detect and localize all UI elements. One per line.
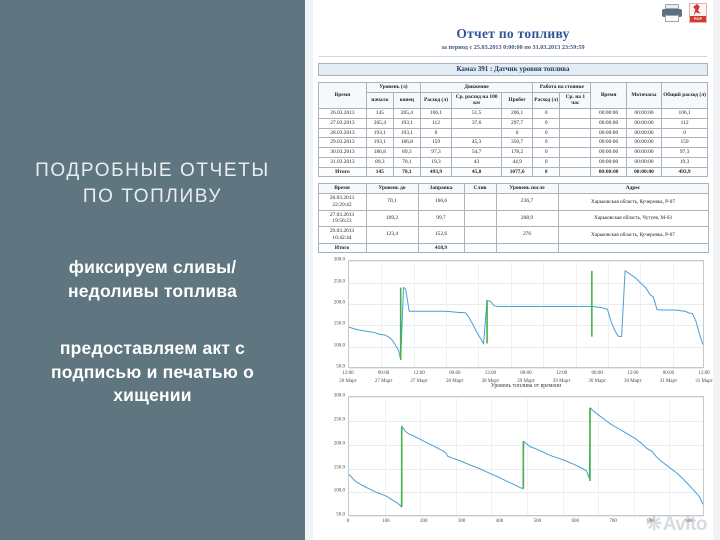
cell-c8: 00:00:00 [591, 128, 626, 138]
y-tick-label: 300.0 [321, 258, 345, 263]
cell-c3 [464, 227, 496, 244]
cell-c1: 109,2 [366, 210, 418, 227]
cell-c2: 70,1 [393, 167, 420, 177]
chart1-series-line [349, 261, 703, 368]
x-tick-label: 12:0026 Март [330, 370, 366, 385]
fuel-summary-table: Время Уровень (л) Движение Работа на сто… [318, 82, 708, 178]
th-refuel: Заправка [418, 184, 464, 194]
th-group-level: Уровень (л) [366, 82, 420, 92]
cell-c1: 123,4 [366, 227, 418, 244]
cell-c2: 152,6 [418, 227, 464, 244]
x-tick-label: 600 [557, 518, 593, 526]
x-tick-time: 00:00 [366, 370, 402, 378]
cell-c7 [560, 138, 591, 148]
cell-c1: 186,8 [366, 148, 393, 158]
th-idle-consumption: Расход (л) [533, 92, 560, 109]
cell-c1: 193,1 [366, 128, 393, 138]
cell-c3 [464, 243, 496, 253]
table-row: 26.03.201322:20:4270,1166,6236,7Харьковс… [318, 194, 708, 211]
cell-c3: 493,9 [420, 167, 451, 177]
cell-c9: 00:00:00 [626, 157, 661, 167]
pdf-icon-label: PDF [690, 16, 706, 22]
x-tick-time: 00:00 [650, 370, 686, 378]
cell-c6: 0 [533, 167, 560, 177]
cell-c4: 45,3 [452, 138, 502, 148]
x-tick-time: 12:00 [615, 370, 651, 378]
vehicle-name: Камаз 391 : Датчик уровня топлива [319, 64, 708, 76]
feature1-line-1: фиксируем сливы/ [10, 256, 295, 279]
x-tick-label: 0 [330, 518, 366, 526]
x-tick-label: 700 [595, 518, 631, 526]
x-tick-label: 500 [519, 518, 555, 526]
y-tick-label: 300.0 [321, 394, 345, 399]
cell-c8: 00:00:00 [591, 118, 626, 128]
cell-c2: 193,1 [393, 118, 420, 128]
y-tick-label: 250.0 [321, 279, 345, 284]
cell-c0: 29.03.2013 [319, 138, 367, 148]
y-tick-label: 200.0 [321, 441, 345, 446]
table-row: 27.03.2013205,4193,111237,6297,7000:00:0… [319, 118, 708, 128]
cell-c5: 178,2 [502, 148, 533, 158]
cell-c5 [558, 243, 708, 253]
cell-c3: 106,1 [420, 109, 451, 119]
cell-c1: 205,4 [366, 118, 393, 128]
table2-column-row: Время Уровень до Заправка Слив Уровень п… [318, 184, 708, 194]
th-group-idle: Работа на стоянке [533, 82, 591, 92]
th-move-consumption: Расход (л) [420, 92, 451, 109]
headline-line-2: ПО ТОПЛИВУ [13, 184, 293, 210]
x-tick-label: 12:0028 Март [472, 370, 508, 385]
y-tick-label: 100.0 [321, 489, 345, 494]
cell-c6: 0 [533, 148, 560, 158]
cell-c0: 26.03.2013 [319, 109, 367, 119]
th-level-start: начало [366, 92, 393, 109]
cell-c8: 00:00:00 [591, 157, 626, 167]
table1-body: 26.03.2013145205,4106,151,5206,1000:00:0… [319, 109, 708, 177]
x-tick-label: 00:0027 Март [366, 370, 402, 385]
cell-c1: 70,1 [366, 194, 418, 211]
cell-c9: 00:00:00 [626, 118, 661, 128]
cell-c7 [560, 109, 591, 119]
x-tick-time: 12:00 [401, 370, 437, 378]
cell-c7 [560, 118, 591, 128]
x-tick-label: 300 [444, 518, 480, 526]
th-level-after: Уровень после [496, 184, 558, 194]
cell-c10: 112 [662, 118, 708, 128]
chart2-series-line [349, 397, 703, 516]
x-tick-label: 12:0029 Март [544, 370, 580, 385]
report-toolbar: PDF [313, 0, 713, 26]
th-idle-time: Время [591, 82, 626, 108]
cell-c8: 00:00:00 [591, 138, 626, 148]
cell-c7 [560, 148, 591, 158]
x-tick-time: 00:00 [579, 370, 615, 378]
th-avg-per-hour: Ср. на 1 час [560, 92, 591, 109]
x-tick-label: 100 [368, 518, 404, 526]
report-period: за период с 25.03.2013 0:00:00 по 31.03.… [313, 44, 713, 51]
th-group-movement: Движение [420, 82, 532, 92]
cell-c4: 54,7 [452, 148, 502, 158]
cell-c9: 00:00:00 [626, 148, 661, 158]
cell-c7 [560, 128, 591, 138]
cell-c5: 0 [502, 128, 533, 138]
cell-c3 [464, 210, 496, 227]
cell-c3: 19,3 [420, 157, 451, 167]
cell-c8: 00:00:00 [591, 148, 626, 158]
feature2-line-2: подписью и печатью о [10, 361, 295, 384]
header-divider [319, 56, 707, 57]
cell-c6: 0 [533, 128, 560, 138]
cell-c4: 43 [452, 157, 502, 167]
cell-c3: 0 [420, 128, 451, 138]
cell-c1: 145 [366, 109, 393, 119]
x-tick-date: 28 Март [472, 378, 508, 386]
cell-c1: 145 [366, 167, 393, 177]
cell-c4: 276 [496, 227, 558, 244]
x-tick-date: 30 Март [615, 378, 651, 386]
th-level-end: конец [393, 92, 420, 109]
cell-c2: 418,9 [418, 243, 464, 253]
th-drain: Слив [464, 184, 496, 194]
table2-body: 26.03.201322:20:4270,1166,6236,7Харьковс… [318, 194, 708, 253]
cell-c2: 205,4 [393, 109, 420, 119]
th-level-before: Уровень до [366, 184, 418, 194]
cell-c4: 208,9 [496, 210, 558, 227]
cell-c9: 00:00:00 [626, 138, 661, 148]
cell-c0: 27.03.201319:56:23 [318, 210, 366, 227]
printer-icon[interactable] [661, 3, 683, 23]
report-document: PDF Отчет по топливу за период с 25.03.2… [313, 0, 713, 540]
cell-c0: 29.03.201316:42:44 [318, 227, 366, 244]
cell-c10: 106,1 [662, 109, 708, 119]
table-row: 29.03.2013193,1186,815945,3350,7000:00:0… [319, 138, 708, 148]
x-tick-label: 00:0029 Март [508, 370, 544, 385]
x-tick-time: 00:00 [437, 370, 473, 378]
x-tick-label: 400 [481, 518, 517, 526]
y-tick-label: 250.0 [321, 418, 345, 423]
y-tick-label: 150.0 [321, 465, 345, 470]
chart1-x-axis: 12:0026 Март00:0027 Март12:0027 Март00:0… [348, 368, 704, 384]
th-engine-hours: Моточасы [626, 82, 661, 108]
cell-c4: 45,8 [452, 167, 502, 177]
fuel-level-index-chart: 0100200300400500600700800900 300.0250.02… [318, 396, 708, 532]
th-event-time: Время [318, 184, 366, 194]
chart2-plot-area [348, 396, 704, 516]
cell-c4 [496, 243, 558, 253]
cell-c0: 27.03.2013 [319, 118, 367, 128]
x-tick-date: 27 Март [366, 378, 402, 386]
table-row: 28.03.2013193,1193,100000:00:0000:00:000 [319, 128, 708, 138]
th-mileage: Пробег [502, 92, 533, 109]
x-tick-time: 12:00 [472, 370, 508, 378]
th-avg-per-100km: Ср. расход на 100 км [452, 92, 502, 109]
x-tick-label: 12:0030 Март [615, 370, 651, 385]
cell-c4: 51,5 [452, 109, 502, 119]
x-tick-date: 31 Март [686, 378, 720, 386]
cell-c3: 112 [420, 118, 451, 128]
table1-head: Время Уровень (л) Движение Работа на сто… [319, 82, 708, 108]
cell-c5: 1077,6 [502, 167, 533, 177]
cell-c0: Итого [318, 243, 366, 253]
x-tick-date: 26 Март [330, 378, 366, 386]
cell-c2: 70,1 [393, 157, 420, 167]
y-tick-label: 50.0 [321, 513, 345, 518]
table-row: 26.03.2013145205,4106,151,5206,1000:00:0… [319, 109, 708, 119]
cell-c0: 31.03.2013 [319, 157, 367, 167]
table2-head: Время Уровень до Заправка Слив Уровень п… [318, 184, 708, 194]
feature2-line-1: предоставляем акт с [10, 337, 295, 360]
cell-c5: Харьковская область, Чугуев, М-03 [558, 210, 708, 227]
table-row-total: Итого418,9 [318, 243, 708, 253]
cell-c2: 99,7 [418, 210, 464, 227]
vehicle-title-table: Камаз 391 : Датчик уровня топлива [318, 63, 708, 76]
fuel-level-time-chart: 12:0026 Март00:0027 Март12:0027 Март00:0… [318, 260, 708, 389]
pdf-icon[interactable]: PDF [687, 3, 709, 23]
cell-c0: 30.03.2013 [319, 148, 367, 158]
table1-group-row: Время Уровень (л) Движение Работа на сто… [319, 82, 708, 92]
cell-c10: 493,9 [662, 167, 708, 177]
cell-c5: 206,1 [502, 109, 533, 119]
table-row: 27.03.201319:56:23109,299,7208,9Харьковс… [318, 210, 708, 227]
cell-c10: 159 [662, 138, 708, 148]
x-tick-label: 12:0027 Март [401, 370, 437, 385]
left-marketing-panel: ПОДРОБНЫЕ ОТЧЕТЫ ПО ТОПЛИВУ фиксируем сл… [0, 0, 305, 540]
cell-c1: 193,1 [366, 138, 393, 148]
feature-drain-detection: фиксируем сливы/ недоливы топлива [10, 256, 295, 303]
table-row: 31.03.201389,370,119,34344,9000:00:0000:… [319, 157, 708, 167]
cell-c10: 97,3 [662, 148, 708, 158]
cell-c0: 28.03.2013 [319, 128, 367, 138]
cell-c4 [452, 128, 502, 138]
report-title: Отчет по топливу [313, 26, 713, 42]
x-tick-time: 12:00 [330, 370, 366, 378]
cell-c6: 0 [533, 138, 560, 148]
cell-c6: 0 [533, 118, 560, 128]
cell-c9: 00:00:00 [626, 128, 661, 138]
th-total-consumption: Общий расход (л) [662, 82, 708, 108]
cell-c4: 37,6 [452, 118, 502, 128]
cell-c4: 236,7 [496, 194, 558, 211]
cell-c5: Харьковская область, Кучеровка, Р-07 [558, 227, 708, 244]
cell-c0: Итого [319, 167, 367, 177]
x-tick-time: 12:00 [686, 370, 720, 378]
x-tick-label: 200 [406, 518, 442, 526]
cell-c8: 00:00:00 [591, 109, 626, 119]
x-tick-date: 30 Март [579, 378, 615, 386]
y-tick-label: 150.0 [321, 322, 345, 327]
feature1-line-2: недоливы топлива [10, 280, 295, 303]
y-tick-label: 50.0 [321, 365, 345, 370]
cell-c9: 00:00:00 [626, 167, 661, 177]
cell-c9: 00:00:00 [626, 109, 661, 119]
table-row: 29.03.201316:42:44123,4152,6276Харьковск… [318, 227, 708, 244]
x-tick-time: 00:00 [508, 370, 544, 378]
cell-c5: 44,9 [502, 157, 533, 167]
cell-c2: 89,3 [393, 148, 420, 158]
headline-line-1: ПОДРОБНЫЕ ОТЧЕТЫ [13, 158, 293, 184]
x-tick-date: 29 Март [544, 378, 580, 386]
cell-c7 [560, 157, 591, 167]
x-tick-label: 00:0030 Март [579, 370, 615, 385]
cell-c0: 26.03.201322:20:42 [318, 194, 366, 211]
x-tick-label: 00:0031 Март [650, 370, 686, 385]
cell-c8: 00:00:00 [591, 167, 626, 177]
cell-c2: 193,1 [393, 128, 420, 138]
x-tick-date: 27 Март [401, 378, 437, 386]
cell-c3 [464, 194, 496, 211]
cell-c3: 159 [420, 138, 451, 148]
th-address: Адрес [558, 184, 708, 194]
x-tick-date: 31 Март [650, 378, 686, 386]
x-tick-label: 12:0031 Март [686, 370, 720, 385]
watermark-text: Avito [663, 514, 707, 535]
cell-c10: 19,3 [662, 157, 708, 167]
chart1-plot-area [348, 260, 704, 368]
table-row-total: Итого14570,1493,945,81077,6000:00:0000:0… [319, 167, 708, 177]
cell-c6: 0 [533, 109, 560, 119]
cell-c5: Харьковская область, Кучеровка, Р-07 [558, 194, 708, 211]
cell-c2: 166,6 [418, 194, 464, 211]
x-tick-label: 00:0028 Март [437, 370, 473, 385]
cell-c2: 186,8 [393, 138, 420, 148]
y-tick-label: 100.0 [321, 343, 345, 348]
slide-root: ПОДРОБНЫЕ ОТЧЕТЫ ПО ТОПЛИВУ фиксируем сл… [0, 0, 720, 540]
cell-c7 [560, 167, 591, 177]
cell-c6: 0 [533, 157, 560, 167]
table-row: 30.03.2013186,889,397,354,7178,2000:00:0… [319, 148, 708, 158]
report-screenshot-panel: PDF Отчет по топливу за период с 25.03.2… [305, 0, 720, 540]
y-tick-label: 200.0 [321, 301, 345, 306]
avito-watermark: ❊Avito [646, 513, 707, 536]
refuel-events-table: Время Уровень до Заправка Слив Уровень п… [318, 183, 709, 253]
cell-c3: 97,3 [420, 148, 451, 158]
cell-c5: 350,7 [502, 138, 533, 148]
feature-theft-report: предоставляем акт с подписью и печатью о… [10, 337, 295, 407]
feature2-line-3: хищении [10, 384, 295, 407]
x-tick-date: 29 Март [508, 378, 544, 386]
cell-c10: 0 [662, 128, 708, 138]
cell-c1: 89,3 [366, 157, 393, 167]
x-tick-date: 28 Март [437, 378, 473, 386]
cell-c1 [366, 243, 418, 253]
th-time: Время [319, 82, 367, 108]
x-tick-time: 12:00 [544, 370, 580, 378]
cell-c5: 297,7 [502, 118, 533, 128]
page-title: ПОДРОБНЫЕ ОТЧЕТЫ ПО ТОПЛИВУ [13, 158, 293, 210]
